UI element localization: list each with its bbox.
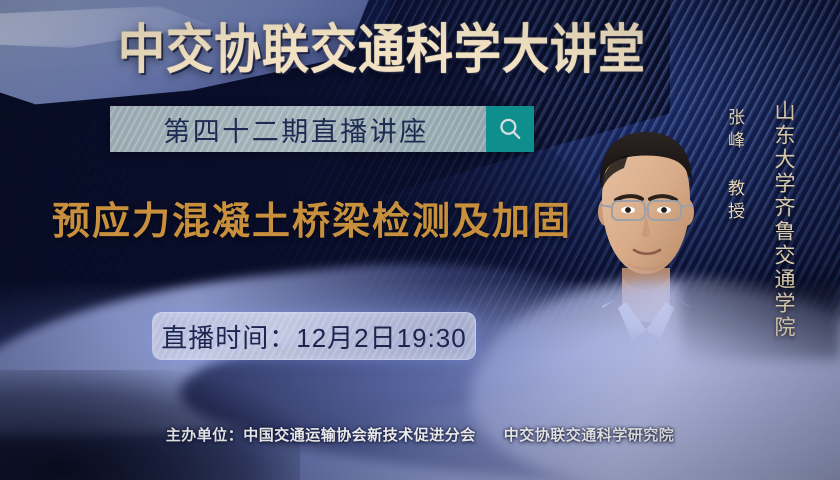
- lecture-topic-title: 预应力混凝土桥梁检测及加固: [52, 190, 572, 245]
- footer-organizers: 主办单位：中国交通运输协会新技术促进分会中交协联交通科学研究院: [0, 424, 840, 445]
- search-icon: [497, 116, 523, 142]
- search-icon-badge[interactable]: [486, 106, 534, 152]
- speaker-organization: 山东大学齐鲁交通学院: [768, 100, 798, 340]
- broadcast-time-badge: 直播时间：12月2日19:30: [152, 312, 476, 360]
- footer-organizer-secondary: 中交协联交通科学研究院: [504, 427, 675, 444]
- poster-main-title: 中交协联交通科学大讲堂: [118, 18, 698, 81]
- live-lecture-poster: 中交协联交通科学大讲堂 第四十二期直播讲座 预应力混凝土桥梁检测及加固 直播时间…: [0, 0, 840, 480]
- footer-organizer-primary: 主办单位：中国交通运输协会新技术促进分会: [166, 427, 476, 444]
- broadcast-time-text: 直播时间：12月2日19:30: [161, 318, 466, 355]
- series-label-text: 第四十二期直播讲座: [110, 106, 486, 152]
- series-label-bar: 第四十二期直播讲座: [110, 106, 534, 152]
- speaker-name-title: 张峰 教授: [722, 108, 747, 225]
- silk-shadow-right: [680, 280, 840, 360]
